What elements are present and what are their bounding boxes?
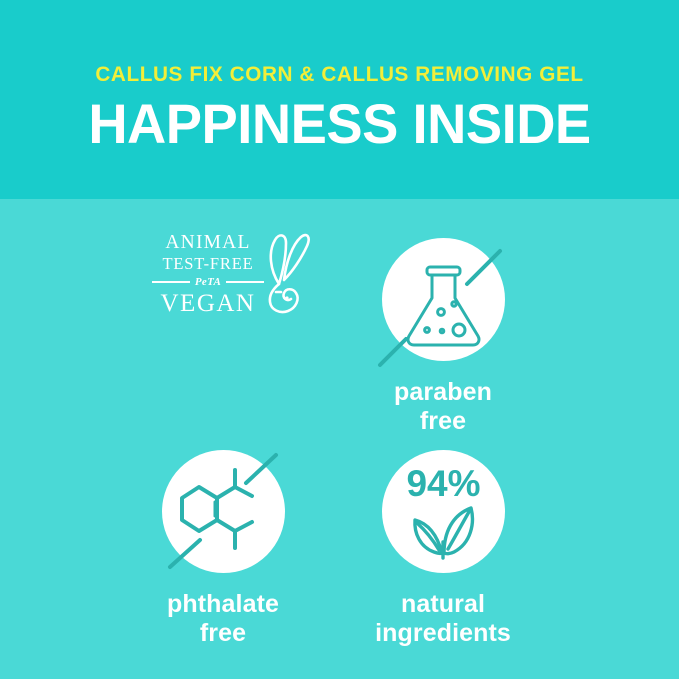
peta-brand-label: PeTA (195, 276, 221, 288)
peta-rule-left (152, 281, 190, 282)
phthalate-label-line2: free (118, 619, 328, 648)
natural-label-line1: natural (338, 590, 548, 619)
paraben-label-line1: paraben (338, 378, 548, 407)
paraben-icon-wrap (338, 234, 548, 366)
leaves-icon: 94% (362, 430, 525, 593)
phthalate-icon-wrap (118, 446, 328, 578)
peta-logo-text: ANIMAL TEST-FREE PeTA VEGAN (152, 232, 264, 318)
product-name-eyebrow: CALLUS FIX CORN & CALLUS REMOVING GEL (12, 62, 667, 87)
header-band: CALLUS FIX CORN & CALLUS REMOVING GEL HA… (0, 0, 679, 199)
product-benefits-graphic: CALLUS FIX CORN & CALLUS REMOVING GEL HA… (0, 0, 679, 679)
peta-logo-brand-row: PeTA (152, 274, 264, 290)
peta-logo-line-test-free: TEST-FREE (152, 254, 264, 274)
peta-vegan-logo: ANIMAL TEST-FREE PeTA VEGAN (152, 232, 312, 322)
peta-logo-line-animal: ANIMAL (152, 232, 264, 254)
page-title: HAPPINESS INSIDE (10, 95, 669, 153)
benefit-tile-natural-ingredients: 94% natural ingredients (338, 446, 548, 648)
flask-no-parabens-icon (362, 218, 525, 381)
phthalate-label-line1: phthalate (118, 590, 328, 619)
bunny-outline-icon (256, 228, 314, 320)
benefit-tile-paraben-free: paraben free (338, 234, 548, 436)
natural-icon-wrap: 94% (338, 446, 548, 578)
natural-label-line2: ingredients (338, 619, 548, 648)
peta-logo-line-vegan: VEGAN (152, 290, 264, 318)
natural-percent-badge: 94% (406, 463, 480, 504)
molecule-no-phthalates-icon (142, 430, 305, 593)
benefit-tile-phthalate-free: phthalate free (118, 446, 328, 648)
